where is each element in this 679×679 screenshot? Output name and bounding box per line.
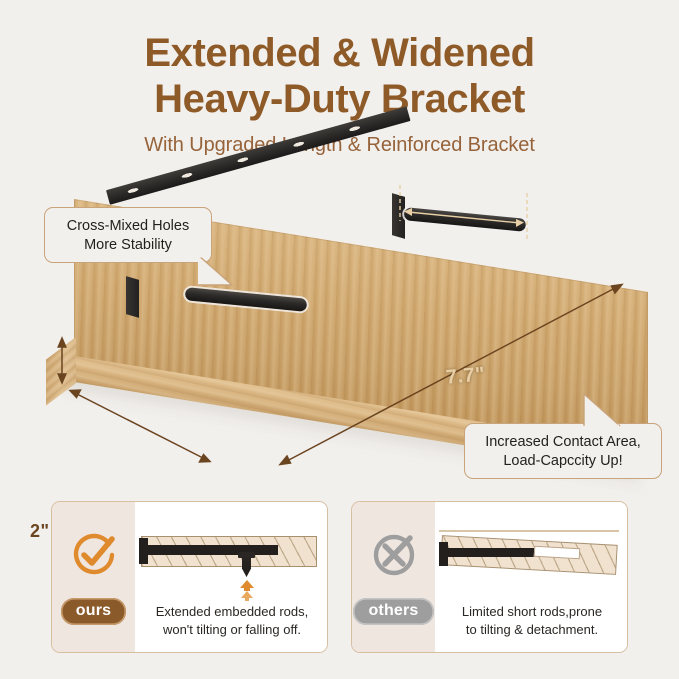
upward-arrow-icon-ours xyxy=(239,580,255,602)
callout-cross-mixed-holes: Cross-Mixed Holes More Stability xyxy=(44,207,212,263)
panel-others-caption-line-1: Limited short rods,prone xyxy=(435,603,628,621)
product-infographic: Extended & Widened Heavy-Duty Bracket Wi… xyxy=(0,0,679,679)
dimension-label-rod-length: 7.7" xyxy=(445,363,486,389)
panel-others-sidebar: others xyxy=(352,502,435,652)
page-title-line-2: Heavy-Duty Bracket xyxy=(0,76,679,122)
panel-ours-caption: Extended embedded rods, won't tilting or… xyxy=(135,603,328,639)
page-title-line-1: Extended & Widened xyxy=(0,30,679,76)
panel-ours-body: Extended embedded rods, won't tilting or… xyxy=(135,502,328,652)
panel-ours-sidebar: ours xyxy=(52,502,135,652)
callout-left-tail xyxy=(196,255,236,289)
callout-right-tail xyxy=(578,392,624,428)
panel-others-caption-line-2: to tilting & detachment. xyxy=(435,621,628,639)
callout-right-line-1: Increased Contact Area, xyxy=(477,433,649,452)
badge-others: others xyxy=(353,598,433,625)
panel-others-body: Limited short rods,prone to tilting & de… xyxy=(435,502,628,652)
embedded-rod-ours xyxy=(146,545,278,555)
panel-ours-caption-line-1: Extended embedded rods, xyxy=(135,603,328,621)
callout-left-line-1: Cross-Mixed Holes xyxy=(57,217,199,236)
comparison-panel-ours: ours Extended embedded rods, won't tilti… xyxy=(51,501,328,653)
check-circle-icon xyxy=(69,530,119,580)
x-circle-icon xyxy=(369,530,419,580)
screw-ours xyxy=(242,555,251,577)
callout-increased-contact-area: Increased Contact Area, Load-Capccity Up… xyxy=(464,423,662,479)
panel-others-caption: Limited short rods,prone to tilting & de… xyxy=(435,603,628,639)
panel-ours-caption-line-2: won't tilting or falling off. xyxy=(135,621,328,639)
callout-left-line-2: More Stability xyxy=(57,236,199,255)
comparison-panel-others: others Limited short rods,prone to tilti… xyxy=(351,501,628,653)
shelf-line-others xyxy=(439,530,619,532)
badge-ours: ours xyxy=(61,598,126,625)
callout-right-line-2: Load-Capccity Up! xyxy=(477,452,649,471)
embedded-rod-others xyxy=(446,548,534,557)
dimension-label-thickness: 2" xyxy=(30,521,50,542)
